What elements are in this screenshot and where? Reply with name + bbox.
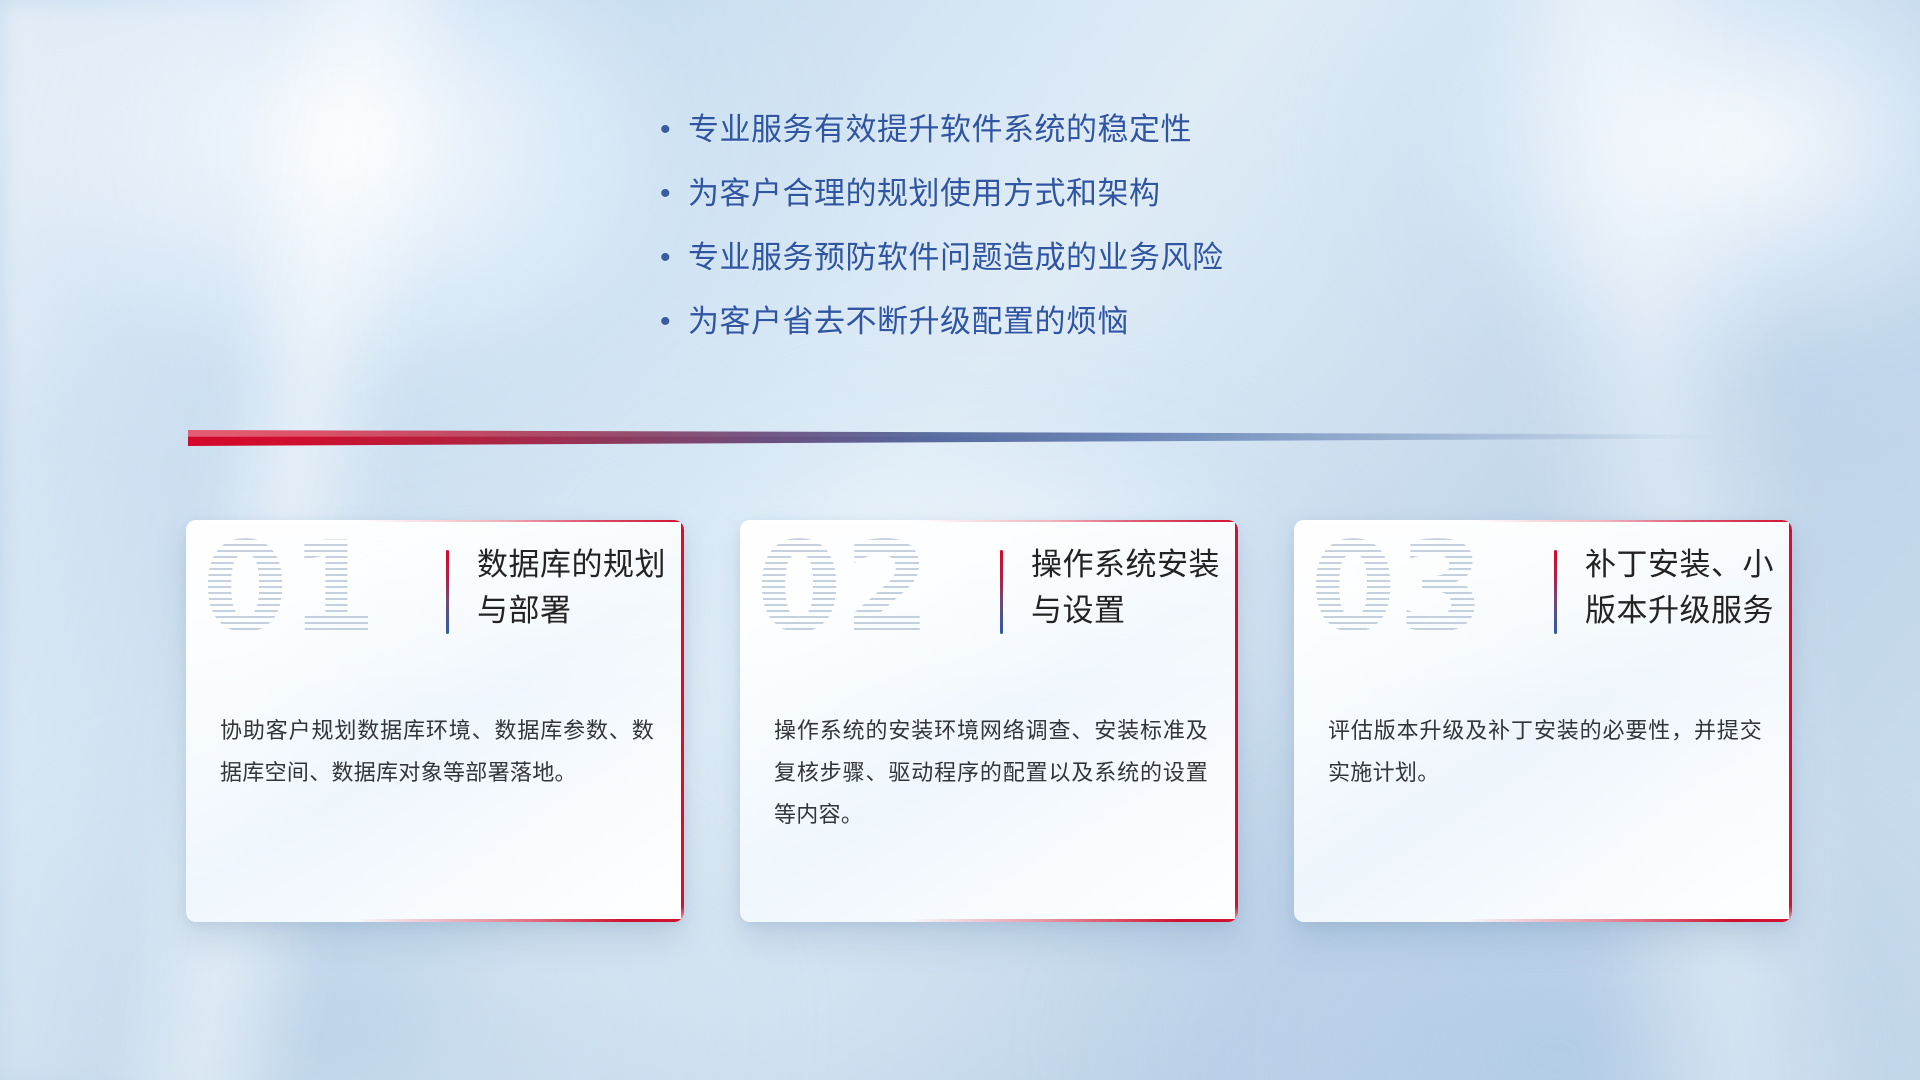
card-title: 操作系统安装与设置 xyxy=(1031,542,1230,634)
card-accent-right xyxy=(1235,520,1238,922)
card-title-block: 补丁安装、小版本升级服务 xyxy=(1554,542,1784,634)
bullet-dot-icon: • xyxy=(660,236,688,280)
bullet-dot-icon: • xyxy=(660,300,688,344)
card-accent-top xyxy=(1294,520,1792,522)
service-card[interactable]: 02 操作系统安装与设置 操作系统的安装环境网络调查、安装标准及复核步骤、驱动程… xyxy=(740,520,1238,922)
card-accent-right xyxy=(1789,520,1792,922)
card-title: 补丁安装、小版本升级服务 xyxy=(1585,542,1784,634)
bullet-label: 专业服务预防软件问题造成的业务风险 xyxy=(688,236,1224,280)
card-title-block: 操作系统安装与设置 xyxy=(1000,542,1230,634)
section-divider xyxy=(188,430,1733,446)
bullet-label: 专业服务有效提升软件系统的稳定性 xyxy=(688,108,1192,152)
card-accent-bottom xyxy=(186,919,684,922)
bullet-item: • 专业服务预防软件问题造成的业务风险 xyxy=(660,236,1480,280)
card-description: 评估版本升级及补丁安装的必要性，并提交实施计划。 xyxy=(1328,710,1762,794)
card-number-watermark: 02 xyxy=(756,526,933,650)
card-number-watermark: 01 xyxy=(202,526,379,650)
card-number-watermark: 03 xyxy=(1310,526,1487,650)
service-card[interactable]: 03 补丁安装、小版本升级服务 评估版本升级及补丁安装的必要性，并提交实施计划。 xyxy=(1294,520,1792,922)
service-card[interactable]: 01 数据库的规划与部署 协助客户规划数据库环境、数据库参数、数据库空间、数据库… xyxy=(186,520,684,922)
card-description: 协助客户规划数据库环境、数据库参数、数据库空间、数据库对象等部署落地。 xyxy=(220,710,654,794)
bullet-item: • 为客户省去不断升级配置的烦恼 xyxy=(660,300,1480,344)
card-accent-top xyxy=(740,520,1238,522)
card-accent-bottom xyxy=(1294,919,1792,922)
bullet-label: 为客户省去不断升级配置的烦恼 xyxy=(688,300,1129,344)
bullet-dot-icon: • xyxy=(660,172,688,216)
card-accent-right xyxy=(681,520,684,922)
benefits-bullet-list: • 专业服务有效提升软件系统的稳定性 • 为客户合理的规划使用方式和架构 • 专… xyxy=(660,108,1480,364)
bullet-dot-icon: • xyxy=(660,108,688,152)
title-accent-rule xyxy=(1554,550,1557,634)
card-title: 数据库的规划与部署 xyxy=(477,542,676,634)
card-description: 操作系统的安装环境网络调查、安装标准及复核步骤、驱动程序的配置以及系统的设置等内… xyxy=(774,710,1208,836)
title-accent-rule xyxy=(446,550,449,634)
bullet-label: 为客户合理的规划使用方式和架构 xyxy=(688,172,1161,216)
card-accent-bottom xyxy=(740,919,1238,922)
card-title-block: 数据库的规划与部署 xyxy=(446,542,676,634)
title-accent-rule xyxy=(1000,550,1003,634)
service-card-group: 01 数据库的规划与部署 协助客户规划数据库环境、数据库参数、数据库空间、数据库… xyxy=(0,520,1920,930)
card-accent-top xyxy=(186,520,684,522)
bullet-item: • 专业服务有效提升软件系统的稳定性 xyxy=(660,108,1480,152)
bullet-item: • 为客户合理的规划使用方式和架构 xyxy=(660,172,1480,216)
